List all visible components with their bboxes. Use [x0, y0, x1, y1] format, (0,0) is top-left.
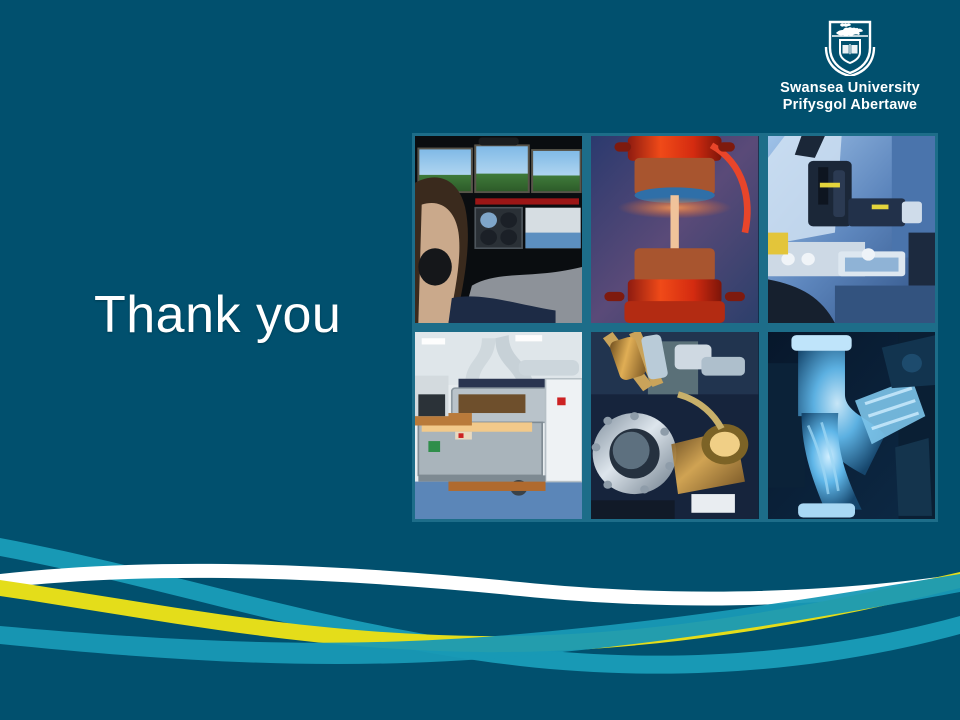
collage-photo-cleanroom-coating-line	[415, 332, 582, 519]
swansea-university-logo: Swansea University Prifysgol Abertawe	[760, 14, 940, 113]
collage-photo-robotic-lab-instrument	[768, 136, 935, 323]
collage-photo-vacuum-chamber	[591, 332, 758, 519]
logo-name-welsh: Prifysgol Abertawe	[760, 97, 940, 114]
collage-photo-materials-testing-rig	[591, 136, 758, 323]
collage-photo-flight-simulator	[415, 136, 582, 323]
logo-name-english: Swansea University	[760, 80, 940, 97]
decorative-wave-ribbons	[0, 530, 960, 720]
collage-photo-glowing-glass-component	[768, 332, 935, 519]
slide-title: Thank you	[94, 286, 341, 344]
swansea-crest-icon	[820, 14, 880, 76]
photo-collage	[412, 133, 938, 522]
presentation-slide: Swansea University Prifysgol Abertawe Th…	[0, 0, 960, 720]
